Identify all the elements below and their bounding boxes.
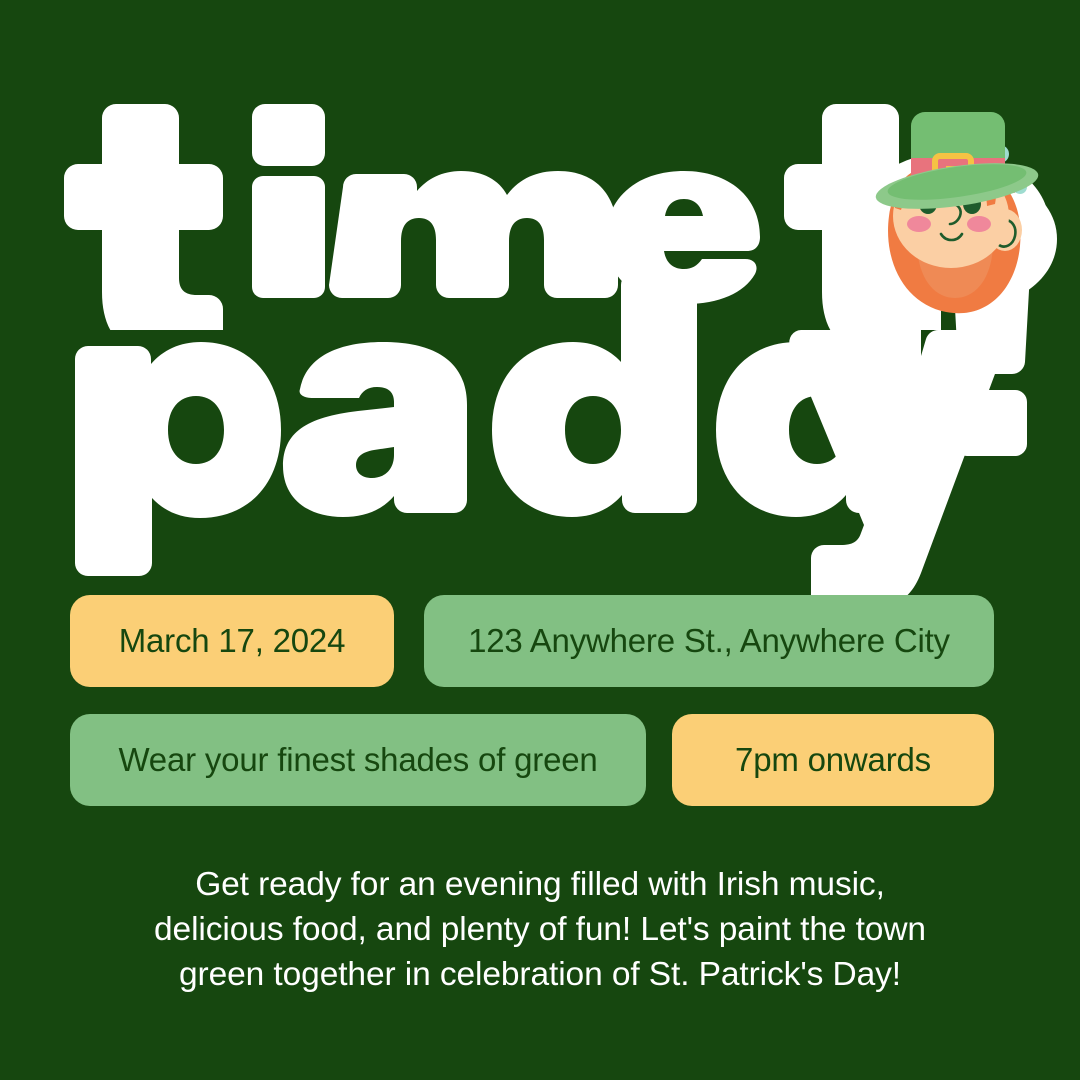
leprechaun-illustration (845, 112, 1060, 327)
detail-pill-date[interactable]: March 17, 2024 (70, 595, 394, 687)
body-copy-line-3: green together in celebration of St. Pat… (90, 952, 990, 997)
body-copy-line-2: delicious food, and plenty of fun! Let's… (90, 907, 990, 952)
poster-canvas: March 17, 2024 123 Anywhere St., Anywher… (0, 0, 1080, 1080)
cheek-left (907, 216, 931, 232)
detail-pill-date-label: March 17, 2024 (119, 622, 346, 660)
body-copy-line-1: Get ready for an evening filled with Iri… (90, 862, 990, 907)
body-copy: Get ready for an evening filled with Iri… (90, 862, 990, 997)
detail-pill-dresscode[interactable]: Wear your finest shades of green (70, 714, 646, 806)
detail-pill-time-label: 7pm onwards (735, 741, 931, 779)
detail-pill-time[interactable]: 7pm onwards (672, 714, 994, 806)
detail-pill-dresscode-label: Wear your finest shades of green (118, 741, 597, 779)
leprechaun-icon (845, 112, 1060, 327)
detail-pill-address-label: 123 Anywhere St., Anywhere City (468, 622, 950, 660)
detail-pill-address[interactable]: 123 Anywhere St., Anywhere City (424, 595, 994, 687)
cheek-right (967, 216, 991, 232)
